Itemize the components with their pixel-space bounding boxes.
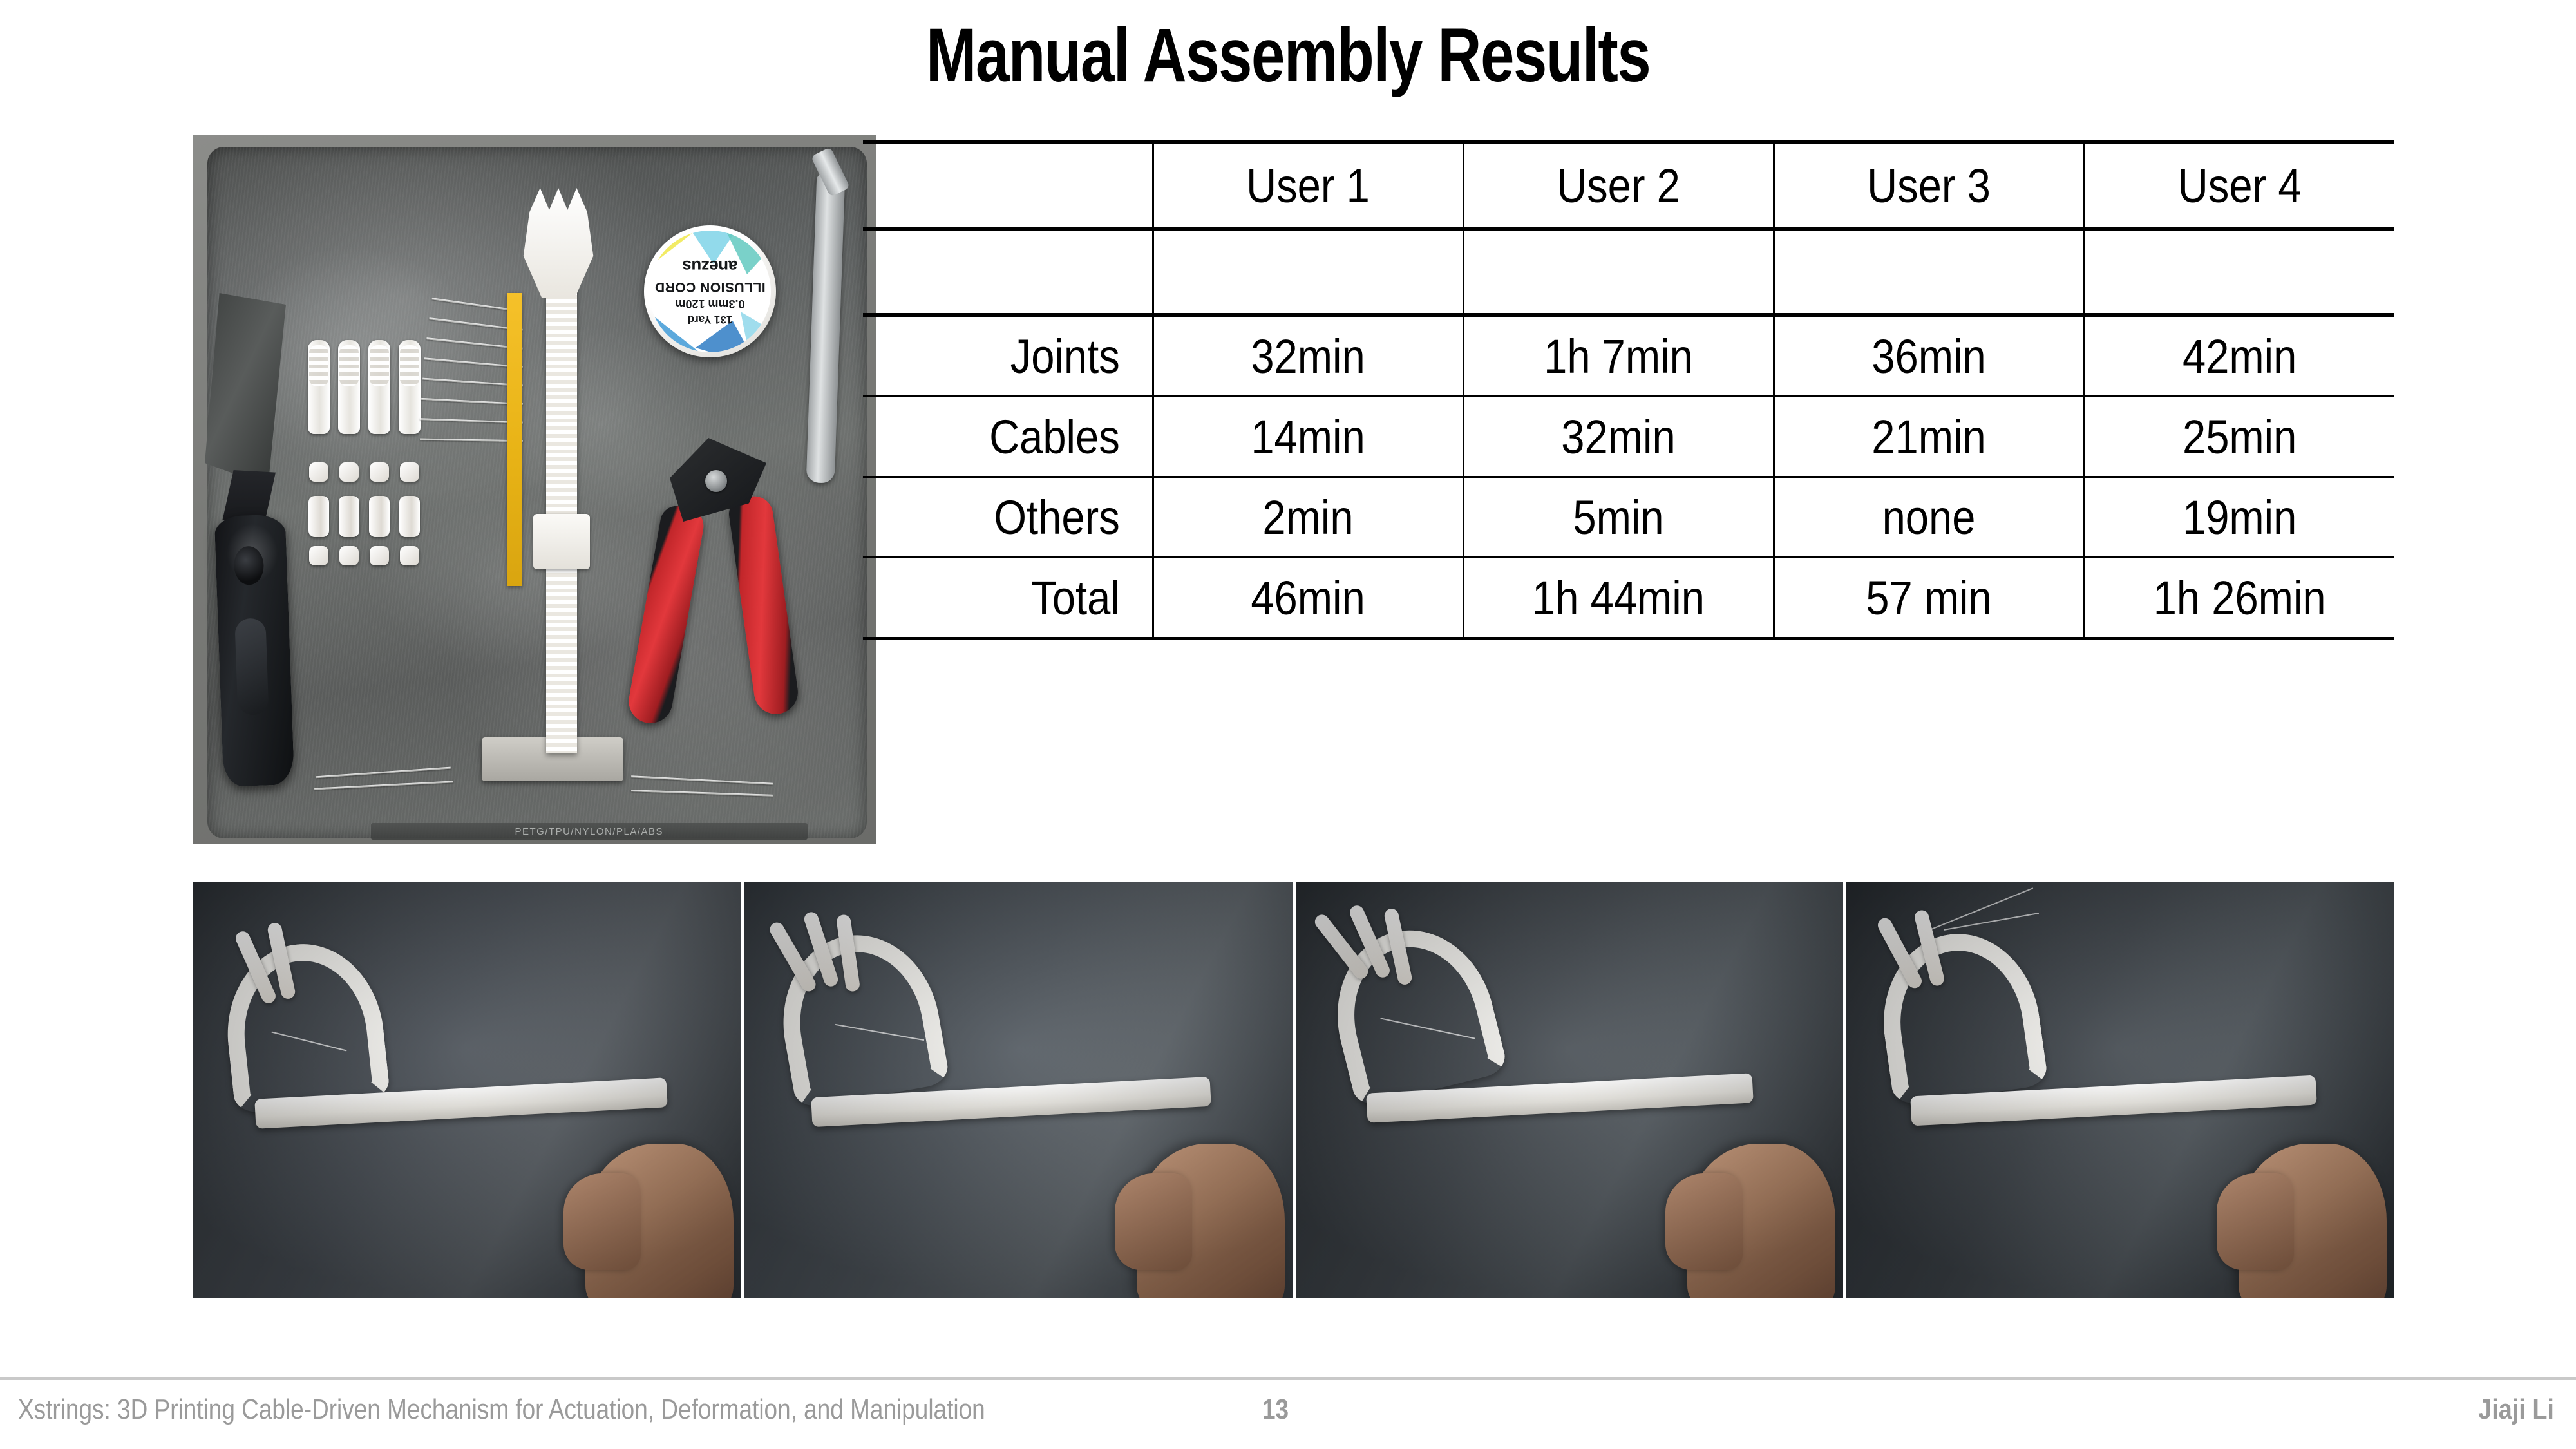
printed-joint-part: [370, 546, 389, 565]
table-cell: [1171, 229, 1444, 315]
table-cell: [880, 229, 1135, 315]
spool-product-text: ILLUSION CORD: [654, 279, 765, 295]
manual-assembly-results-table: User 1 User 2 User 3 User 4 Joints 32min…: [863, 140, 2394, 640]
printed-link-part: [339, 496, 359, 537]
spool-spec-text: 0.3mm 120m: [675, 298, 744, 311]
cell-joints-user-3: 36min: [1792, 315, 2065, 397]
printed-bone-part: [368, 340, 390, 434]
footer-page-number: 13: [1262, 1394, 1289, 1426]
printed-joint-part: [370, 462, 389, 482]
table-row-total: Total 46min 1h 44min 57 min 1h 26min: [863, 558, 2394, 639]
table-cell: [1792, 229, 2065, 315]
printed-bone-part: [308, 340, 330, 434]
assembled-gripper-photo-2: [744, 882, 1293, 1298]
table-corner-cell: [880, 142, 1135, 229]
footer-author: Jiaji Li: [2478, 1394, 2554, 1426]
printed-joint-part: [309, 546, 328, 565]
footer-paper-title: Xstrings: 3D Printing Cable-Driven Mecha…: [18, 1394, 985, 1426]
printed-bone-part: [399, 340, 421, 434]
cell-total-user-4: 1h 26min: [2103, 558, 2376, 639]
row-label-total: Total: [880, 558, 1135, 639]
cell-cables-user-3: 21min: [1792, 397, 2065, 477]
flush-cutter-pivot: [705, 470, 727, 492]
illusion-cord-spool: 131 Yard 0.3mm 120m ILLUSION CORD anezus: [644, 225, 776, 357]
cell-joints-user-2: 1h 7min: [1482, 315, 1755, 397]
footer-divider: [0, 1377, 2576, 1380]
table-header-row: User 1 User 2 User 3 User 4: [863, 142, 2394, 229]
cell-joints-user-1: 32min: [1171, 315, 1444, 397]
cell-cables-user-4: 25min: [2103, 397, 2376, 477]
cell-joints-user-4: 42min: [2103, 315, 2376, 397]
tools-overview-photo: 131 Yard 0.3mm 120m ILLUSION CORD anezus…: [193, 135, 876, 844]
printed-link-part: [369, 496, 390, 537]
table-cell: [2103, 229, 2376, 315]
spool-yard-text: 131 Yard: [688, 314, 733, 327]
table-row-others: Others 2min 5min none 19min: [863, 477, 2394, 558]
assembled-gripper-photo-1: [193, 882, 741, 1298]
human-hand: [1687, 1144, 1835, 1298]
human-hand: [585, 1144, 734, 1298]
table-blank-row: [863, 229, 2394, 315]
assembled-results-photo-strip: [193, 882, 2394, 1298]
printed-joint-part: [400, 462, 419, 482]
cell-cables-user-2: 32min: [1482, 397, 1755, 477]
printed-hand-clip: [533, 514, 590, 569]
spool-brand-text: anezus: [683, 257, 737, 277]
cell-others-user-1: 2min: [1171, 477, 1444, 558]
printed-joint-part: [339, 546, 359, 565]
printed-joint-part: [309, 462, 328, 482]
human-hand: [2239, 1144, 2387, 1298]
cable-thread: [1944, 913, 2039, 931]
printed-joint-part: [339, 462, 359, 482]
yellow-tape-strip: [507, 293, 522, 586]
table-row-cables: Cables 14min 32min 21min 25min: [863, 397, 2394, 477]
table-header-user-4: User 4: [2103, 142, 2376, 229]
putty-knife-handle: [214, 514, 295, 787]
row-label-cables: Cables: [880, 397, 1135, 477]
cell-others-user-3: none: [1792, 477, 2065, 558]
page-title: Manual Assembly Results: [258, 13, 2318, 98]
table-header-user-3: User 3: [1792, 142, 2065, 229]
printed-bone-part: [338, 340, 360, 434]
cell-total-user-2: 1h 44min: [1482, 558, 1755, 639]
assembled-gripper-photo-3: [1296, 882, 1844, 1298]
row-label-joints: Joints: [880, 315, 1135, 397]
human-hand: [1137, 1144, 1285, 1298]
footer: Xstrings: 3D Printing Cable-Driven Mecha…: [0, 1385, 2576, 1449]
assembled-gripper-photo-4: [1846, 882, 2394, 1298]
printed-claw: [218, 936, 390, 1114]
cell-others-user-4: 19min: [2103, 477, 2376, 558]
printed-link-part: [399, 496, 420, 537]
row-label-others: Others: [880, 477, 1135, 558]
printed-joint-part: [400, 546, 419, 565]
printed-link-part: [308, 496, 329, 537]
table-cell: [1482, 229, 1755, 315]
cell-others-user-2: 5min: [1482, 477, 1755, 558]
table-header-user-2: User 2: [1482, 142, 1755, 229]
spool-label: 131 Yard 0.3mm 120m ILLUSION CORD anezus: [649, 231, 771, 352]
cell-total-user-1: 46min: [1171, 558, 1444, 639]
build-plate-label: PETG/TPU/NYLON/PLA/ABS: [371, 823, 808, 840]
table-row-joints: Joints 32min 1h 7min 36min 42min: [863, 315, 2394, 397]
cell-cables-user-1: 14min: [1171, 397, 1444, 477]
cell-total-user-3: 57 min: [1792, 558, 2065, 639]
table-header-user-1: User 1: [1171, 142, 1444, 229]
